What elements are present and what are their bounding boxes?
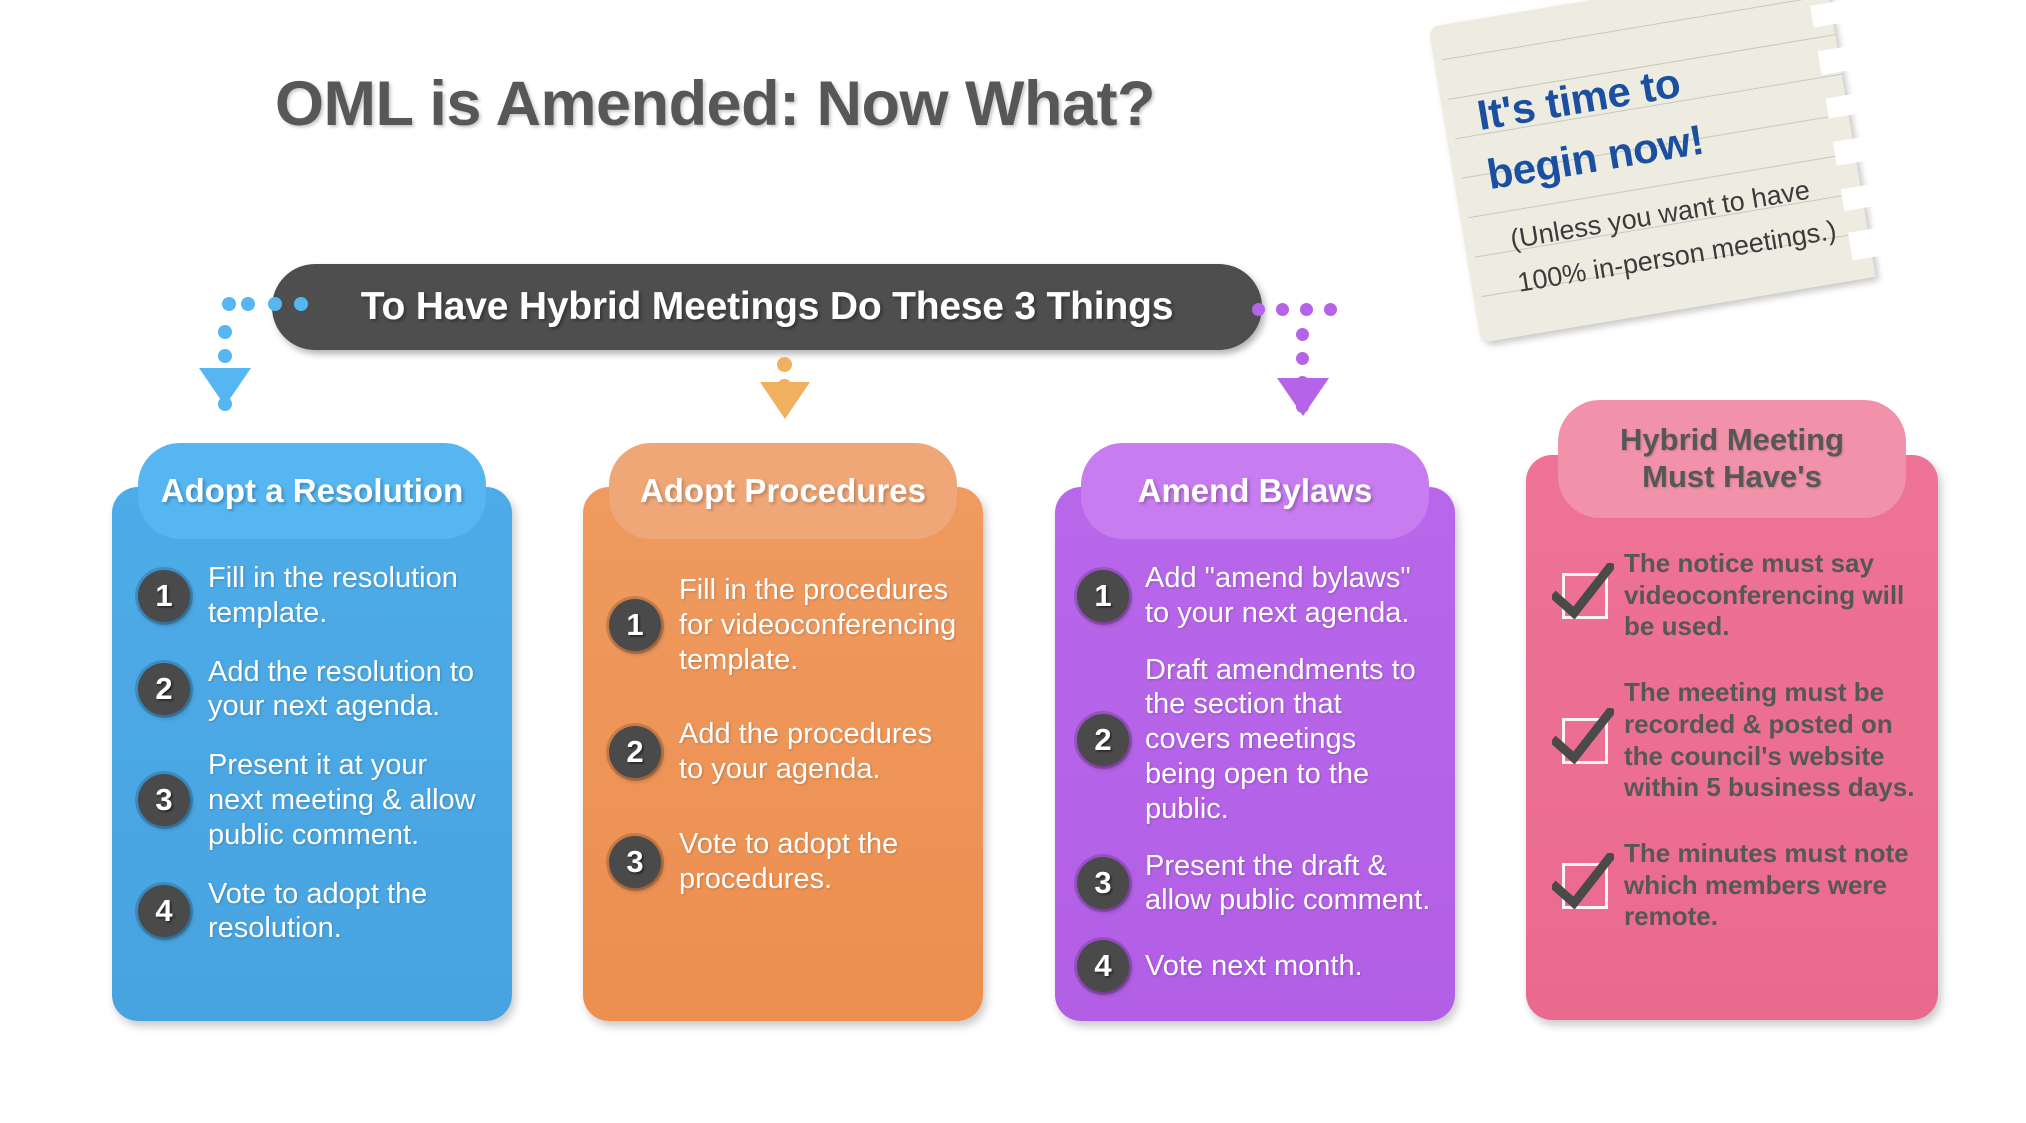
step-number-badge: 3 [138, 774, 190, 826]
orange-arrowhead [760, 382, 810, 419]
step-number-badge: 3 [1077, 857, 1129, 909]
card-header-pill: Adopt a Resolution [138, 443, 486, 539]
step-number-badge: 2 [1077, 714, 1129, 766]
list-item: The minutes must note which members were… [1552, 838, 1916, 933]
torn-edge-notch [1818, 46, 1852, 75]
step-text: Vote to adopt the resolution. [208, 877, 486, 947]
list-item: 1 Fill in the procedures for videoconfer… [609, 573, 957, 677]
torn-edge-notch [1841, 184, 1874, 211]
check-icon [1552, 853, 1614, 915]
step-number-badge: 1 [1077, 570, 1129, 622]
list-item: 1 Add "amend bylaws" to your next agenda… [1077, 561, 1433, 631]
blue-arrowhead [199, 368, 251, 406]
steps-list: 1 Add "amend bylaws" to your next agenda… [1055, 561, 1455, 1014]
step-text: Fill in the resolution template. [208, 561, 486, 631]
check-icon [1552, 563, 1614, 625]
step-number-badge: 2 [138, 663, 190, 715]
step-text: Fill in the procedures for videoconferen… [679, 573, 957, 677]
card-title-line1: Hybrid Meeting [1620, 422, 1844, 459]
card-amend-bylaws: Amend Bylaws 1 Add "amend bylaws" to you… [1055, 443, 1455, 1021]
check-icon [1552, 708, 1614, 770]
list-item: The notice must say videoconferencing wi… [1552, 548, 1916, 643]
steps-list: 1 Fill in the procedures for videoconfer… [583, 573, 983, 937]
checkbox-checked [1552, 712, 1614, 770]
list-item: 3 Vote to adopt the procedures. [609, 827, 957, 897]
step-text: Present it at your next meeting & allow … [208, 748, 486, 852]
purple-arrowhead [1277, 378, 1329, 416]
step-number-badge: 1 [138, 570, 190, 622]
checkbox-checked [1552, 857, 1614, 915]
must-have-list: The notice must say videoconferencing wi… [1526, 548, 1938, 967]
torn-edge-notch [1833, 137, 1867, 166]
step-number-badge: 1 [609, 599, 661, 651]
list-item: 2 Draft amendments to the section that c… [1077, 653, 1433, 827]
must-have-text: The notice must say videoconferencing wi… [1624, 548, 1916, 643]
card-hybrid-meeting-must-haves: Hybrid Meeting Must Have's The notice mu… [1526, 400, 1938, 1020]
list-item: 3 Present it at your next meeting & allo… [138, 748, 486, 852]
step-number-badge: 2 [609, 726, 661, 778]
step-text: Add the resolution to your next agenda. [208, 655, 486, 725]
banner-label: To Have Hybrid Meetings Do These 3 Thing… [361, 285, 1173, 329]
list-item: 3 Present the draft & allow public comme… [1077, 849, 1433, 919]
torn-edge-notch [1826, 94, 1859, 119]
list-item: 2 Add the resolution to your next agenda… [138, 655, 486, 725]
card-header-pill: Adopt Procedures [609, 443, 957, 539]
step-text: Draft amendments to the section that cov… [1145, 653, 1433, 827]
must-have-text: The minutes must note which members were… [1624, 838, 1916, 933]
list-item: The meeting must be recorded & posted on… [1552, 677, 1916, 804]
torn-edge-notch [1810, 1, 1843, 28]
note-rule-line [1442, 0, 1829, 60]
steps-list: 1 Fill in the resolution template. 2 Add… [112, 561, 512, 970]
step-number-badge: 4 [138, 885, 190, 937]
card-title-line2: Must Have's [1642, 459, 1822, 496]
card-title: Adopt a Resolution [161, 472, 463, 511]
card-adopt-procedures: Adopt Procedures 1 Fill in the procedure… [583, 443, 983, 1021]
page-title: OML is Amended: Now What? [0, 68, 1430, 140]
step-text: Present the draft & allow public comment… [1145, 849, 1433, 919]
card-title: Adopt Procedures [640, 472, 926, 511]
card-header-pill: Amend Bylaws [1081, 443, 1429, 539]
list-item: 4 Vote to adopt the resolution. [138, 877, 486, 947]
step-number-badge: 4 [1077, 940, 1129, 992]
card-header-pill: Hybrid Meeting Must Have's [1558, 400, 1906, 518]
step-text: Add "amend bylaws" to your next agenda. [1145, 561, 1433, 631]
step-number-badge: 3 [609, 836, 661, 888]
checkbox-checked [1552, 567, 1614, 625]
step-text: Vote to adopt the procedures. [679, 827, 957, 897]
list-item: 4 Vote next month. [1077, 940, 1433, 992]
card-adopt-a-resolution: Adopt a Resolution 1 Fill in the resolut… [112, 443, 512, 1021]
list-item: 1 Fill in the resolution template. [138, 561, 486, 631]
card-title: Amend Bylaws [1138, 472, 1373, 511]
infographic-canvas: OML is Amended: Now What? It's time to b… [0, 0, 2026, 1123]
banner-pill: To Have Hybrid Meetings Do These 3 Thing… [272, 264, 1262, 350]
torn-edge-notch [1848, 228, 1882, 261]
step-text: Add the procedures to your agenda. [679, 717, 957, 787]
must-have-text: The meeting must be recorded & posted on… [1624, 677, 1916, 804]
list-item: 2 Add the procedures to your agenda. [609, 717, 957, 787]
sticky-note: It's time to begin now! (Unless you want… [1428, 0, 1875, 343]
step-text: Vote next month. [1145, 949, 1363, 984]
